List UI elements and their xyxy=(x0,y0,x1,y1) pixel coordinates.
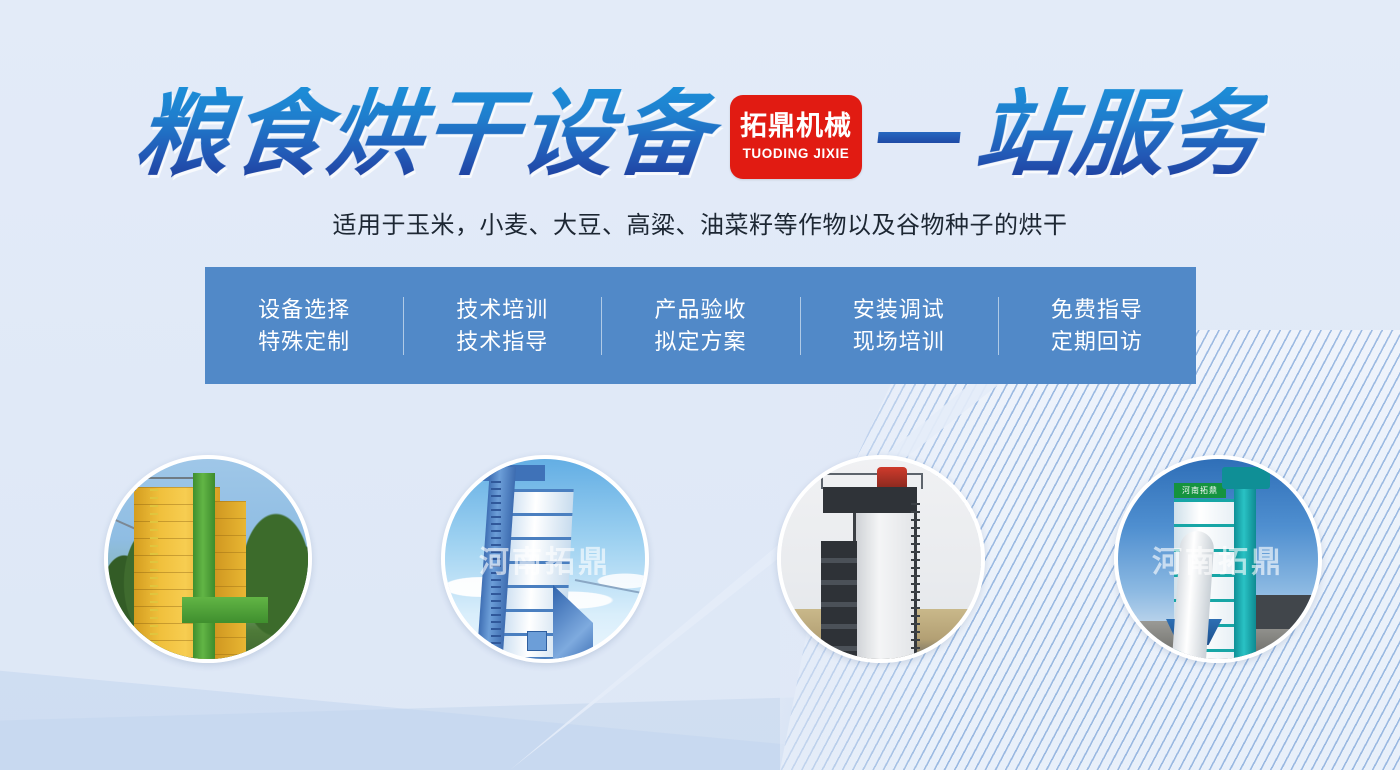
feature-line-1: 技术培训 xyxy=(403,294,601,326)
subtitle: 适用于玉米，小麦、大豆、高粱、油菜籽等作物以及谷物种子的烘干 xyxy=(0,205,1400,240)
feature-item-free-guidance: 免费指导 定期回访 xyxy=(998,294,1196,358)
promo-banner: 粮食烘干设备 拓鼎机械 TUODING JIXIE 站服务 适用于玉米，小麦、大… xyxy=(0,0,1400,770)
product-photo-row: 河南拓鼎 河南拓鼎 xyxy=(0,455,1400,670)
feature-line-1: 设备选择 xyxy=(205,294,403,326)
red-cabinet xyxy=(877,467,907,487)
bucket-elevator xyxy=(193,473,215,659)
feature-line-2: 特殊定制 xyxy=(205,326,403,358)
feature-item-equipment-selection: 设备选择 特殊定制 xyxy=(205,294,403,358)
feature-line-2: 拟定方案 xyxy=(601,326,799,358)
feature-item-technical-training: 技术培训 技术指导 xyxy=(403,294,601,358)
elevator-head xyxy=(1222,467,1270,489)
brand-logo-badge: 拓鼎机械 TUODING JIXIE xyxy=(730,95,862,179)
access-ladder xyxy=(911,503,920,659)
photo-scene xyxy=(108,459,308,659)
access-ladder xyxy=(150,489,158,659)
feature-line-2: 技术指导 xyxy=(403,326,601,358)
inspection-door xyxy=(527,631,547,651)
product-photo-grey-dryer xyxy=(777,455,985,663)
feature-line-1: 免费指导 xyxy=(998,294,1196,326)
feature-line-1: 产品验收 xyxy=(601,294,799,326)
service-feature-bar: 设备选择 特殊定制 技术培训 技术指导 产品验收 拟定方案 安装调试 现场培训 … xyxy=(205,267,1196,384)
feature-line-1: 安装调试 xyxy=(800,294,998,326)
brand-name-en: TUODING JIXIE xyxy=(743,147,850,161)
photo-watermark: 河南拓鼎 xyxy=(445,537,645,581)
photo-watermark: 河南拓鼎 xyxy=(1118,537,1318,581)
photo-scene xyxy=(781,459,981,659)
brand-name-cn: 拓鼎机械 xyxy=(740,113,852,140)
product-photo-blue-dryer: 河南拓鼎 xyxy=(441,455,649,663)
roof-railing xyxy=(821,473,923,489)
headline-row: 粮食烘干设备 拓鼎机械 TUODING JIXIE 站服务 xyxy=(0,74,1400,194)
feature-line-2: 现场培训 xyxy=(800,326,998,358)
product-photo-teal-dryer: 河南拓鼎 河南拓鼎 xyxy=(1114,455,1322,663)
page-title: 粮食烘干设备 xyxy=(131,87,731,181)
dryer-tower-body xyxy=(853,495,917,659)
product-photo-yellow-dryer xyxy=(104,455,312,663)
page-title-tail: 站服务 xyxy=(965,87,1269,181)
feature-line-2: 定期回访 xyxy=(998,326,1196,358)
transfer-duct xyxy=(182,597,268,623)
dryer-section-stack xyxy=(821,541,857,659)
dash-stroke-icon xyxy=(877,132,960,143)
feature-item-installation-commissioning: 安装调试 现场培训 xyxy=(800,294,998,358)
tower-brand-sign: 河南拓鼎 xyxy=(1174,483,1226,498)
feature-item-product-acceptance: 产品验收 拟定方案 xyxy=(601,294,799,358)
tower-top-housing xyxy=(823,487,917,513)
